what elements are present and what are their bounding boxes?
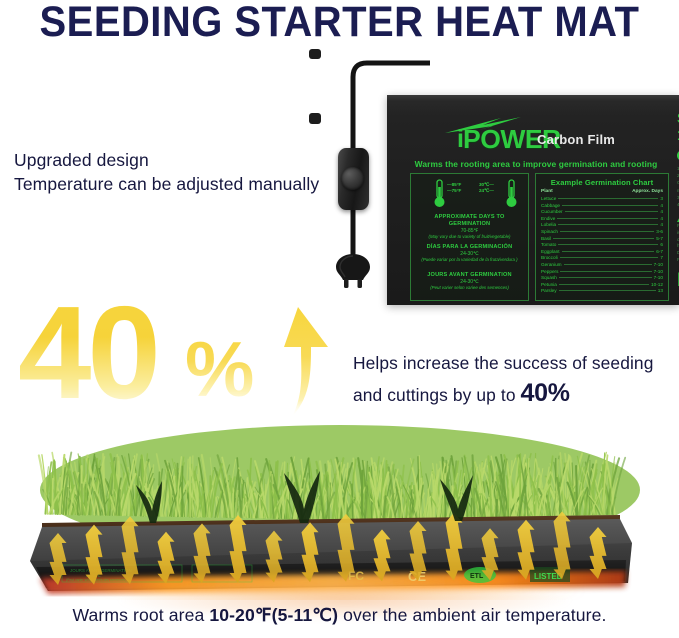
chart-title: Example Germination Chart	[536, 178, 668, 187]
chart-row-leader	[560, 257, 659, 258]
temp-f-high: 85°F	[452, 182, 462, 187]
chart-row-plant: Peppers	[541, 269, 558, 276]
germ-fr-heading: JOURS AVANT GERMINATION	[411, 272, 528, 279]
germ-en-note: (May vary due to variety of fruit/vegeta…	[411, 234, 528, 240]
chart-row-leader	[559, 284, 649, 285]
benefit-line-1: Helps increase the success of seeding	[353, 348, 675, 378]
chart-row-days: 7-10	[654, 269, 663, 276]
heat-mat-label-panel: i POWER Carbon Film Warms the rooting ar…	[387, 95, 679, 305]
benefit-text: Helps increase the success of seeding an…	[353, 348, 675, 410]
germination-info-box: —85°F —75°F 30℃— 24℃— APPROXIMATE DAYS T…	[410, 173, 529, 301]
chart-row-leader	[562, 205, 658, 206]
mat-tagline: Warms the rooting area to improve germin…	[402, 159, 670, 169]
chart-row: Endive4	[541, 216, 663, 223]
chart-row-leader	[560, 271, 651, 272]
temperature-controller-box[interactable]	[338, 148, 369, 210]
chart-row-days: 7-10	[654, 262, 663, 269]
feature-text-upgraded-design: Upgraded design Temperature can be adjus…	[14, 148, 319, 196]
controller-dial-knob[interactable]	[341, 167, 364, 190]
chart-row: Cabbage4	[541, 203, 663, 210]
chart-row-plant: Squash	[541, 275, 557, 282]
product-infographic: SEEDING STARTER HEAT MAT Upgraded design…	[0, 0, 679, 638]
chart-row-plant: Basil	[541, 236, 551, 243]
chart-col-plant: Plant	[541, 189, 553, 194]
germination-block-es: DÍAS PARA LA GERMINACIÓN 24-30℃ (Puede v…	[411, 244, 528, 263]
chart-row-days: 10-12	[651, 282, 663, 289]
chart-row-days: 4	[660, 222, 663, 229]
chart-row: Tomato6	[541, 242, 663, 249]
chart-row-leader	[559, 277, 652, 278]
stat-percent-sign: %	[185, 330, 254, 408]
up-arrow-icon	[264, 305, 336, 423]
chart-row-days: 3	[660, 196, 663, 203]
chart-row-days: 6-7	[656, 249, 663, 256]
chart-row: Spinach3-6	[541, 229, 663, 236]
chart-row-plant: Broccoli	[541, 255, 558, 262]
stat-40-percent-graphic: 40 %	[18, 295, 318, 425]
chart-row: Parsley13	[541, 288, 663, 295]
chart-row-plant: Spinach	[541, 229, 558, 236]
chart-row: Basil5-7	[541, 236, 663, 243]
chart-row-days: 7-10	[654, 275, 663, 282]
chart-row: Broccoli7	[541, 255, 663, 262]
chart-row: Geranium7-10	[541, 262, 663, 269]
bottom-caption: Warms root area 10-20℉(5-11℃) over the a…	[0, 605, 679, 626]
chart-row-days: 4	[660, 216, 663, 223]
germ-en-heading2: GERMINATION	[411, 221, 528, 228]
two-prong-plug-icon	[333, 254, 373, 288]
germ-es-heading: DÍAS PARA LA GERMINACIÓN	[411, 244, 528, 251]
seedling-tray-scene: JOURS AVANT GERMINATION 24-30℃ (Peut var…	[0, 415, 679, 600]
feature-line-1: Upgraded design	[14, 148, 319, 172]
chart-row-leader	[564, 264, 652, 265]
chart-row-plant: Lobelia	[541, 222, 556, 229]
stat-number: 40	[18, 287, 157, 419]
chart-row-leader	[558, 198, 658, 199]
germ-fr-note: (Peut varier selon variee des semences)	[411, 285, 528, 291]
chart-row-leader	[553, 238, 654, 239]
germination-chart-box: Example Germination Chart Plant Approx. …	[535, 173, 669, 301]
germ-en-heading: APPROXIMATE DAYS TO	[411, 214, 528, 221]
chart-row-plant: Petunia	[541, 282, 557, 289]
chart-col-days: Approx. Days	[632, 189, 663, 194]
chart-row-days: 4	[660, 209, 663, 216]
germ-es-note: (Puede variar por la variedad de la frut…	[411, 257, 528, 263]
chart-row-plant: Eggplant	[541, 249, 560, 256]
chart-row: Lobelia4	[541, 222, 663, 229]
chart-row-plant: Geranium	[541, 262, 562, 269]
chart-header-row: Plant Approx. Days	[541, 189, 663, 194]
page-title: SEEDING STARTER HEAT MAT	[24, 0, 655, 47]
chart-row-plant: Endive	[541, 216, 555, 223]
chart-row-plant: Cabbage	[541, 203, 560, 210]
chart-row-days: 4	[660, 203, 663, 210]
thermometer-fahrenheit-icon	[433, 179, 446, 209]
chart-row-leader	[565, 211, 659, 212]
chart-row-days: 13	[658, 288, 663, 295]
germination-block-en: APPROXIMATE DAYS TO GERMINATION 70-85℉ (…	[411, 214, 528, 240]
germination-block-fr: JOURS AVANT GERMINATION 24-30℃ (Peut var…	[411, 272, 528, 291]
caption-pre: Warms root area	[72, 605, 209, 625]
temp-f-low: 75°F	[452, 188, 462, 193]
chart-row: Squash7-10	[541, 275, 663, 282]
controller-bottom-neck	[309, 113, 321, 124]
chart-row-days: 6	[660, 242, 663, 249]
benefit-line-2: and cuttings by up to 40%	[353, 378, 675, 410]
chart-row-leader	[562, 251, 655, 252]
svg-text:ETL: ETL	[470, 573, 484, 580]
benefit-line-2-pre: and cuttings by up to	[353, 385, 521, 405]
temp-c-low: 24℃	[479, 188, 489, 193]
chart-rows: Lettuce3Cabbage4Cucumber4Endive4Lobelia4…	[541, 196, 663, 295]
caption-emphasis: 10-20℉(5-11℃)	[209, 605, 338, 625]
chart-row: Eggplant6-7	[541, 249, 663, 256]
temp-c-high: 30℃	[479, 182, 489, 187]
feature-line-2: Temperature can be adjusted manually	[14, 172, 319, 196]
chart-row: Lettuce3	[541, 196, 663, 203]
chart-row-plant: Tomato	[541, 242, 556, 249]
chart-row-plant: Lettuce	[541, 196, 556, 203]
chart-row-days: 3-6	[656, 229, 663, 236]
chart-row: Peppers7-10	[541, 269, 663, 276]
benefit-emphasis: 40%	[521, 379, 570, 407]
chart-row-days: 5-7	[656, 236, 663, 243]
chart-row-leader	[559, 290, 656, 291]
controller-top-neck	[309, 49, 321, 59]
chart-row-days: 7	[660, 255, 663, 262]
thermometer-celsius-icon	[505, 179, 518, 209]
product-type-label: Carbon Film	[537, 132, 615, 147]
thermometer-row: —85°F —75°F 30℃— 24℃—	[417, 179, 522, 209]
chart-row: Petunia10-12	[541, 282, 663, 289]
chart-row-leader	[557, 218, 658, 219]
chart-row: Cucumber4	[541, 209, 663, 216]
chart-row-plant: Parsley	[541, 288, 557, 295]
caption-post: over the ambient air temperature.	[338, 605, 606, 625]
chart-row-leader	[558, 244, 658, 245]
chart-row-leader	[558, 224, 658, 225]
chart-row-plant: Cucumber	[541, 209, 563, 216]
chart-row-leader	[560, 231, 654, 232]
